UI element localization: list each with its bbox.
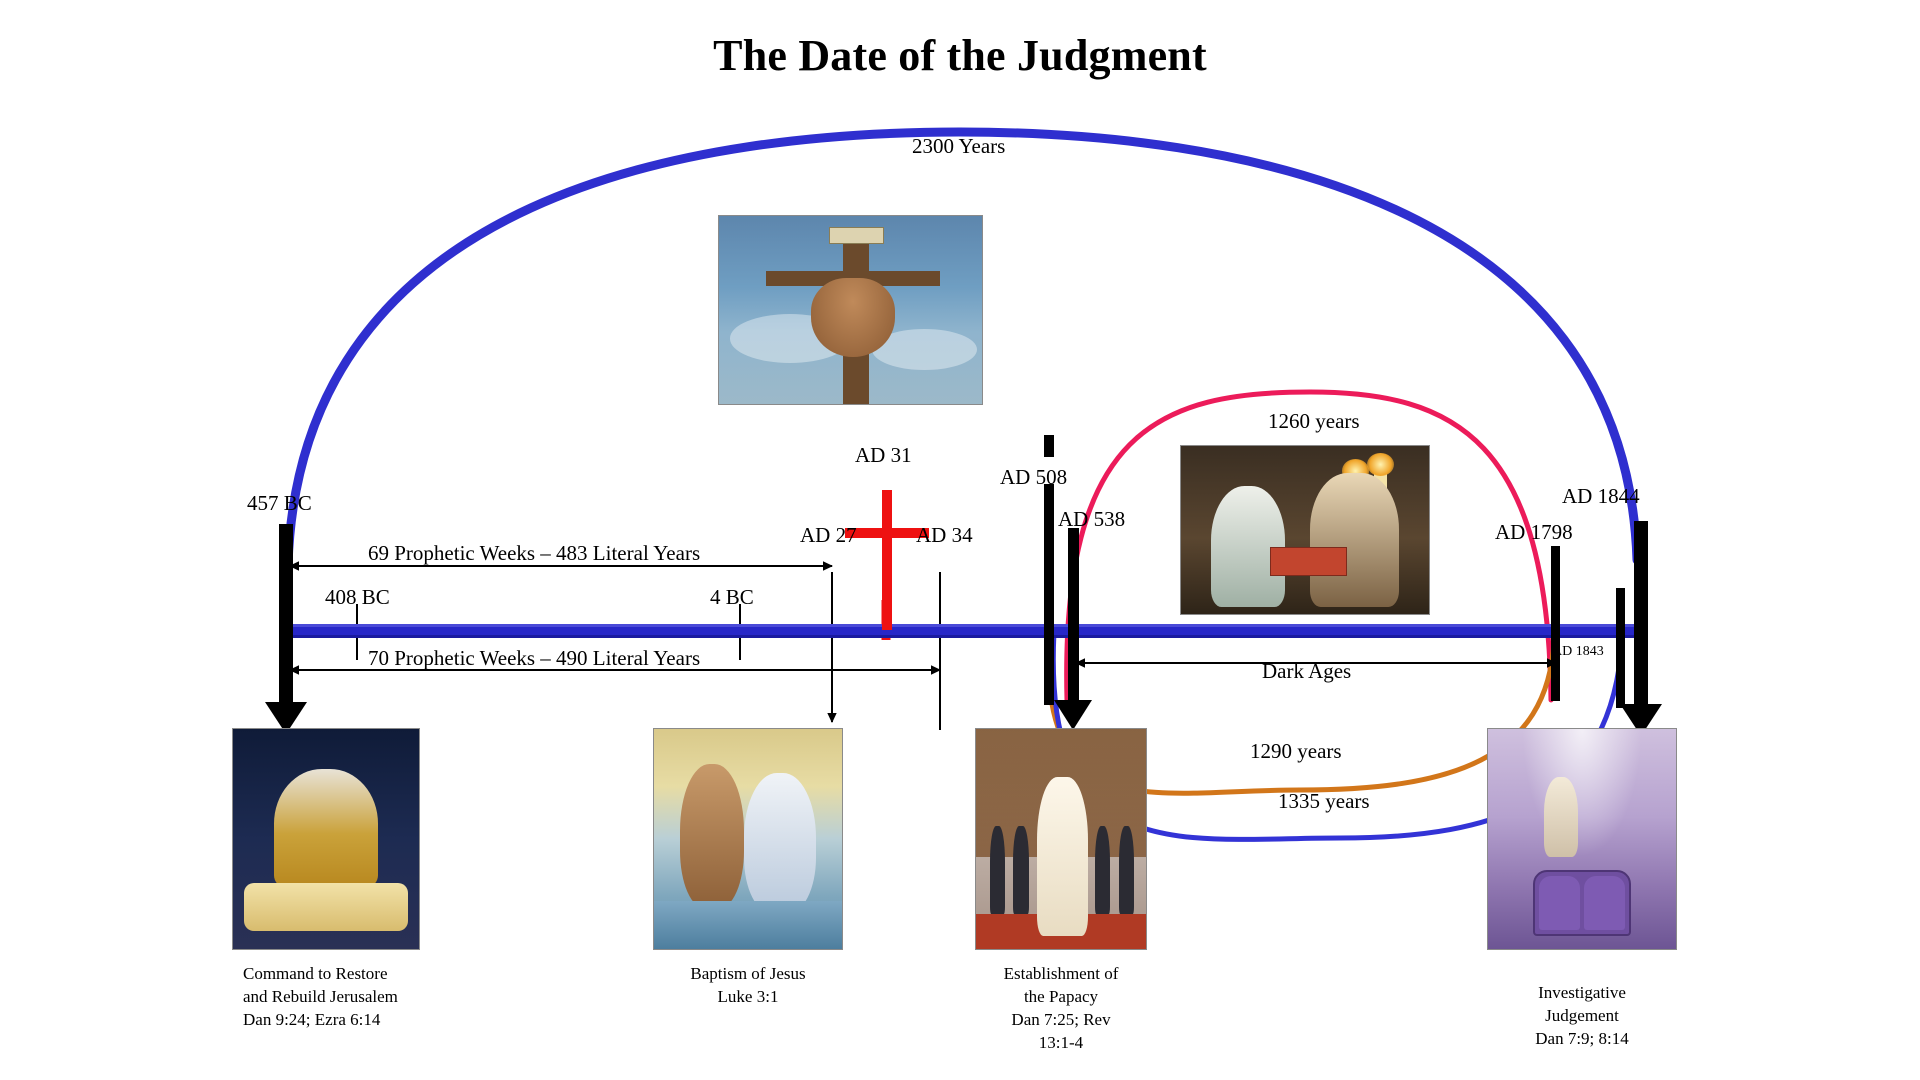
- label-arc-1335-years: 1335 years: [1278, 790, 1370, 813]
- scroll-shape: [244, 883, 408, 931]
- label-ad1843: AD 1843: [1552, 644, 1604, 659]
- attendant-figure: [1095, 826, 1110, 914]
- marker-ad1843: [1616, 588, 1625, 708]
- attendant-figure: [990, 826, 1005, 914]
- label-408bc: 408 BC: [325, 586, 390, 609]
- attendant-figure: [1119, 826, 1134, 914]
- label-arc-1290-years: 1290 years: [1250, 740, 1342, 763]
- water-shape: [654, 901, 842, 949]
- marker-ad1844: [1634, 521, 1648, 711]
- light-beam-shape: [1522, 729, 1642, 857]
- attendant-figure: [1013, 826, 1028, 914]
- label-ad31: AD 31: [855, 444, 912, 467]
- label-span-70-weeks: 70 Prophetic Weeks – 490 Literal Years: [368, 647, 700, 670]
- label-ad508: AD 508: [1000, 466, 1067, 489]
- caption-command-to-restore: Command to Restore and Rebuild Jerusalem…: [243, 963, 543, 1032]
- label-ad538: AD 538: [1058, 508, 1125, 531]
- label-span-dark-ages: Dark Ages: [1262, 660, 1351, 683]
- baptism-image: [653, 728, 843, 950]
- man-figure: [1310, 473, 1399, 607]
- label-457bc: 457 BC: [247, 492, 312, 515]
- marker-ad1798: [1551, 546, 1560, 701]
- marker-arrow-ad538: [1054, 700, 1092, 730]
- label-arc-1260-years: 1260 years: [1268, 410, 1360, 433]
- titulus-sign: [829, 227, 884, 244]
- marker-ad538: [1068, 528, 1079, 708]
- marker-ad508: [1044, 484, 1054, 705]
- label-arc-2300-years: 2300 Years: [912, 135, 1005, 158]
- red-cross-icon: [882, 490, 892, 630]
- jesus-figure: [744, 773, 815, 914]
- marker-457bc: [279, 524, 293, 709]
- dark-ages-image: [1180, 445, 1430, 615]
- papacy-image: [975, 728, 1147, 950]
- open-book-shape: [1270, 547, 1346, 576]
- label-4bc: 4 BC: [710, 586, 754, 609]
- caption-baptism-of-jesus: Baptism of Jesus Luke 3:1: [608, 963, 888, 1009]
- investigative-judgement-image: [1487, 728, 1677, 950]
- label-ad27: AD 27: [800, 524, 857, 547]
- christ-figure: [811, 278, 895, 357]
- pope-figure: [1037, 777, 1088, 935]
- ezra-figure: [274, 769, 378, 888]
- main-timeline-bar: [290, 624, 1635, 638]
- caption-establishment-of-papacy: Establishment of the Papacy Dan 7:25; Re…: [946, 963, 1176, 1055]
- law-tablet-left: [1539, 876, 1580, 930]
- law-tablets-shape: [1533, 870, 1631, 936]
- diagram-canvas: The Date of the Judgment: [0, 0, 1920, 1080]
- label-span-69-weeks: 69 Prophetic Weeks – 483 Literal Years: [368, 542, 700, 565]
- caption-investigative-judgement: Investigative Judgement Dan 7:9; 8:14: [1492, 982, 1672, 1051]
- label-ad1798: AD 1798: [1495, 521, 1573, 544]
- law-tablet-right: [1584, 876, 1625, 930]
- marker-cap-ad508: [1044, 435, 1054, 457]
- crucifixion-image: [718, 215, 983, 405]
- ezra-scroll-image: [232, 728, 420, 950]
- john-figure: [680, 764, 744, 909]
- label-ad1844: AD 1844: [1562, 485, 1640, 508]
- christ-advocate-figure: [1544, 777, 1578, 856]
- label-ad34: AD 34: [916, 524, 973, 547]
